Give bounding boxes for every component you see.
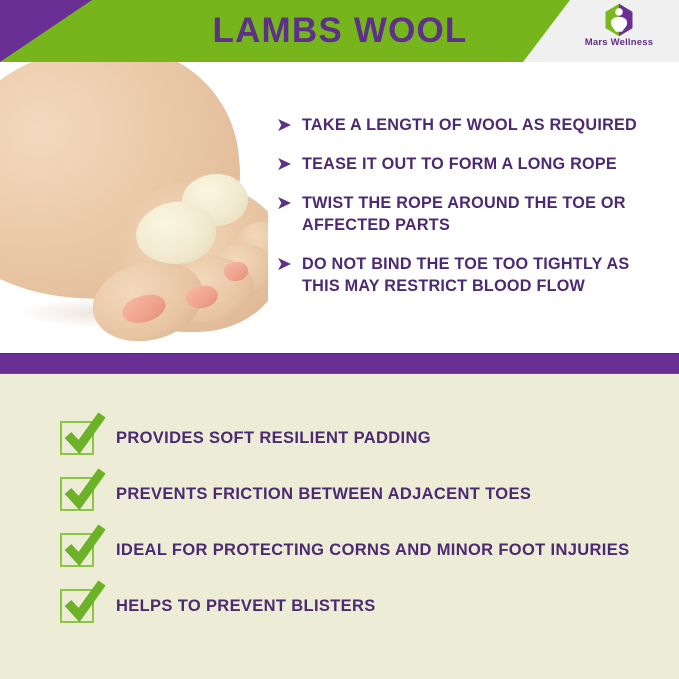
benefit-text: PROVIDES SOFT RESILIENT PADDING bbox=[116, 429, 431, 448]
checkbox-outline bbox=[60, 477, 94, 511]
benefit-item: PROVIDES SOFT RESILIENT PADDING bbox=[60, 418, 431, 458]
arrow-bullet-icon: ➤ bbox=[276, 254, 302, 275]
instruction-item: ➤ TAKE A LENGTH OF WOOL AS REQUIRED bbox=[276, 114, 671, 136]
brand-name: Mars Wellness bbox=[569, 37, 669, 48]
check-icon bbox=[60, 465, 108, 513]
benefit-item: HELPS TO PREVENT BLISTERS bbox=[60, 586, 376, 626]
instruction-text: TWIST THE ROPE AROUND THE TOE OR AFFECTE… bbox=[302, 192, 671, 236]
check-icon bbox=[60, 409, 108, 457]
instruction-list: ➤ TAKE A LENGTH OF WOOL AS REQUIRED ➤ TE… bbox=[276, 114, 671, 314]
header-banner: LAMBS WOOL Mars Wellness bbox=[0, 0, 679, 62]
arrow-bullet-icon: ➤ bbox=[276, 115, 302, 136]
brand-logo: Mars Wellness bbox=[569, 2, 669, 60]
instruction-text: DO NOT BIND THE TOE TOO TIGHTLY AS THIS … bbox=[302, 253, 671, 297]
instruction-item: ➤ TEASE IT OUT TO FORM A LONG ROPE bbox=[276, 153, 671, 175]
instruction-text: TEASE IT OUT TO FORM A LONG ROPE bbox=[302, 153, 671, 175]
benefit-item: IDEAL FOR PROTECTING CORNS AND MINOR FOO… bbox=[60, 530, 629, 570]
page-title: LAMBS WOOL bbox=[150, 7, 530, 55]
benefit-item: PREVENTS FRICTION BETWEEN ADJACENT TOES bbox=[60, 474, 531, 514]
checkbox-outline bbox=[60, 421, 94, 455]
benefit-text: IDEAL FOR PROTECTING CORNS AND MINOR FOO… bbox=[116, 541, 629, 560]
arrow-bullet-icon: ➤ bbox=[276, 154, 302, 175]
checkbox-outline bbox=[60, 533, 94, 567]
check-icon bbox=[60, 577, 108, 625]
instructions-panel: ➤ TAKE A LENGTH OF WOOL AS REQUIRED ➤ TE… bbox=[0, 62, 679, 353]
check-icon bbox=[60, 521, 108, 569]
mars-wellness-hexagon-icon bbox=[601, 2, 637, 38]
instruction-item: ➤ DO NOT BIND THE TOE TOO TIGHTLY AS THI… bbox=[276, 253, 671, 297]
product-infographic: LAMBS WOOL Mars Wellness bbox=[0, 0, 679, 679]
instruction-text: TAKE A LENGTH OF WOOL AS REQUIRED bbox=[302, 114, 671, 136]
checkbox-outline bbox=[60, 589, 94, 623]
benefit-text: PREVENTS FRICTION BETWEEN ADJACENT TOES bbox=[116, 485, 531, 504]
product-photo bbox=[0, 62, 268, 353]
section-divider bbox=[0, 353, 679, 374]
instruction-item: ➤ TWIST THE ROPE AROUND THE TOE OR AFFEC… bbox=[276, 192, 671, 236]
arrow-bullet-icon: ➤ bbox=[276, 193, 302, 214]
benefit-text: HELPS TO PREVENT BLISTERS bbox=[116, 597, 376, 616]
